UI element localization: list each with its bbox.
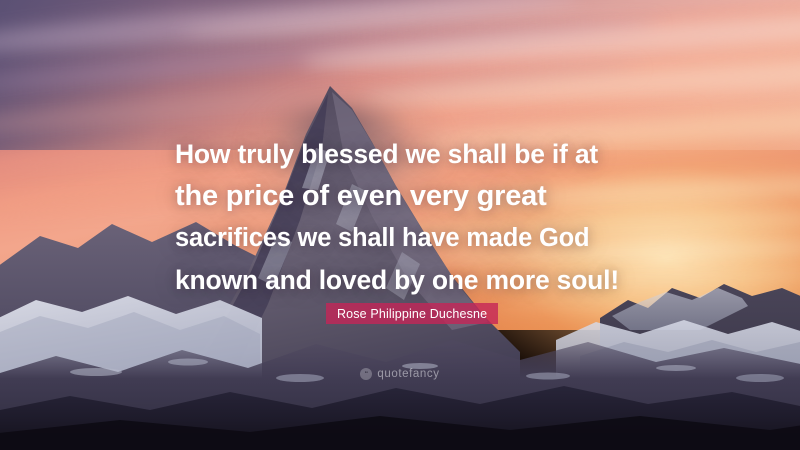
watermark-brand: quotefancy: [377, 368, 439, 380]
quote-mark-icon: “: [360, 368, 372, 380]
quote-line-1: How truly blessed we shall be if at: [175, 133, 655, 175]
quote-wallpaper: How truly blessed we shall be if at the …: [0, 0, 800, 450]
watermark[interactable]: “ quotefancy: [0, 368, 800, 380]
quote-text: How truly blessed we shall be if at the …: [175, 133, 655, 301]
author-name: Rose Philippine Duchesne: [337, 307, 487, 321]
author-badge[interactable]: Rose Philippine Duchesne: [326, 303, 498, 324]
foreground-dark: [0, 416, 800, 450]
quote-line-4: known and loved by one more soul!: [175, 259, 655, 301]
quote-line-2: the price of even very great: [175, 175, 655, 217]
quote-line-3: sacrifices we shall have made God: [175, 217, 655, 259]
